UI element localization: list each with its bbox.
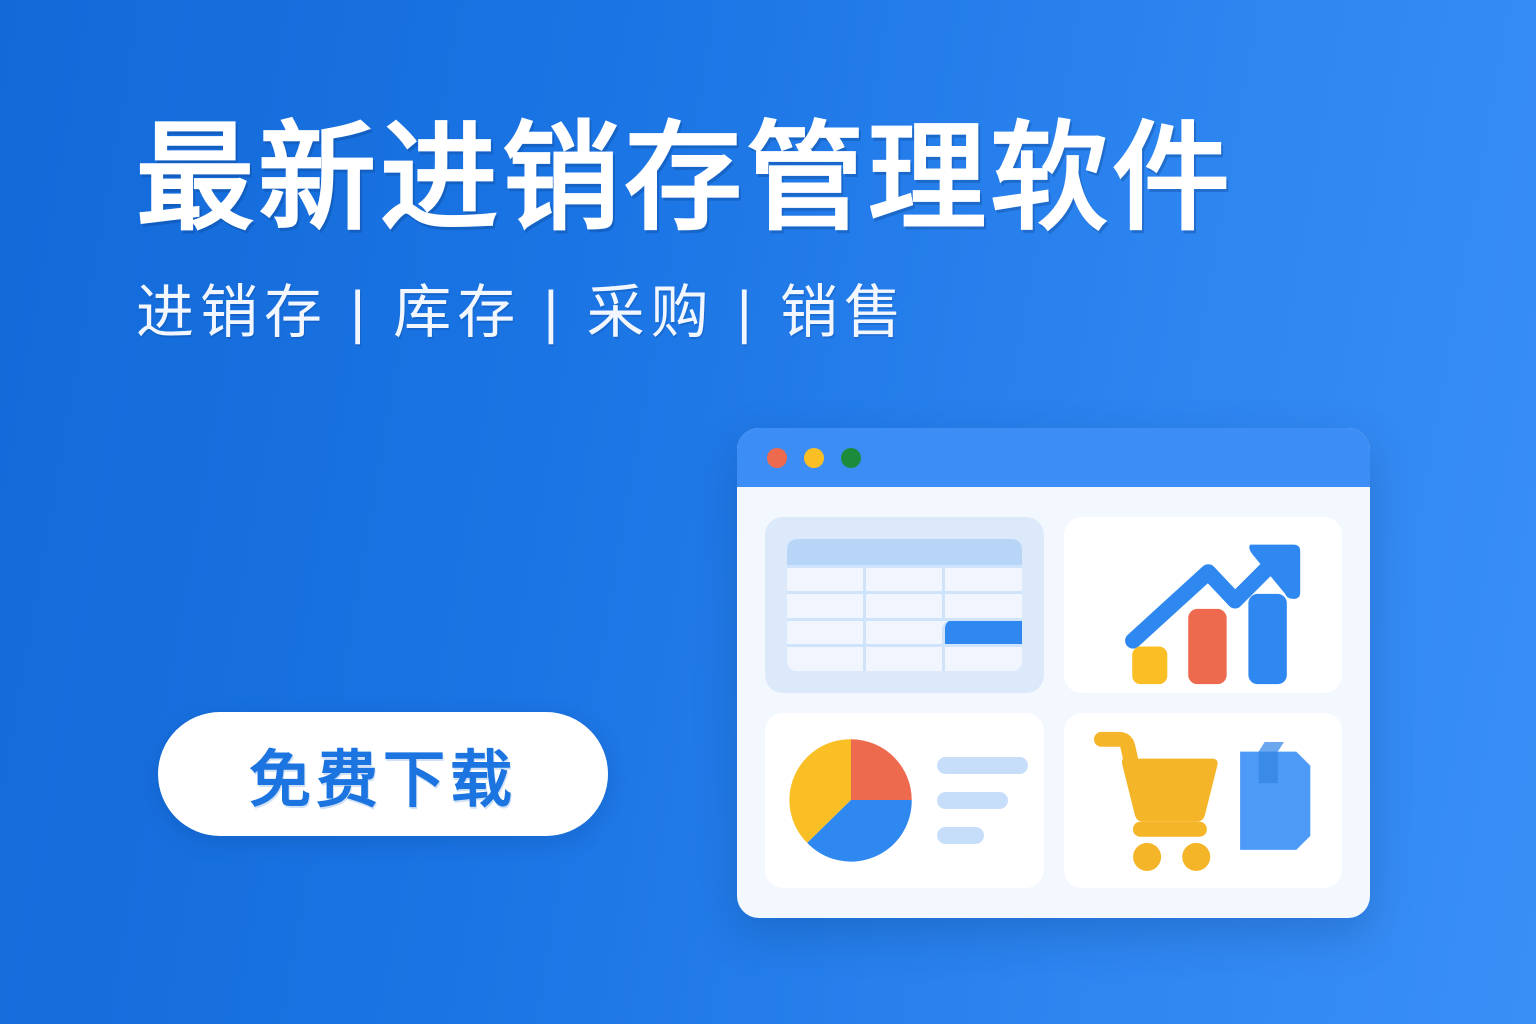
- bar-medium: [1188, 609, 1226, 684]
- page-subtitle: 进销存 | 库存 | 采购 | 销售: [136, 278, 1436, 348]
- package-box-icon: [1240, 737, 1310, 849]
- commerce-card: [1064, 713, 1343, 889]
- table-cell: [863, 594, 942, 617]
- growth-chart-icon: [1064, 517, 1343, 693]
- cart-basket: [1121, 758, 1217, 821]
- headline-block: 最新进销存管理软件 进销存 | 库存 | 采购 | 销售: [136, 108, 1436, 348]
- cart-wheel-left: [1133, 842, 1161, 870]
- pie-chart-icon: [785, 734, 917, 866]
- table-row: [787, 565, 1022, 591]
- box-tape: [1258, 751, 1277, 783]
- table-cell: [863, 568, 942, 591]
- table-cell: [942, 594, 1021, 617]
- cart-bar: [1133, 821, 1207, 836]
- bar-small: [1132, 647, 1167, 685]
- table-row: [787, 644, 1022, 670]
- commerce-icons: [1064, 713, 1343, 889]
- table-cell: [787, 594, 863, 617]
- free-download-button[interactable]: 免费下载: [158, 712, 608, 836]
- table-cell: [787, 568, 863, 591]
- legend-bar: [937, 757, 1028, 774]
- cart-wheel-right: [1182, 842, 1210, 870]
- growth-chart-card: [1064, 517, 1343, 693]
- table-cell: [942, 568, 1021, 591]
- inventory-table-card: [765, 517, 1044, 693]
- table-row: [787, 591, 1022, 617]
- minimize-dot-icon: [804, 448, 824, 468]
- shopping-cart-icon: [1101, 739, 1217, 871]
- close-dot-icon: [767, 448, 787, 468]
- app-window-illustration: [737, 428, 1370, 918]
- free-download-label: 免费下载: [249, 729, 517, 819]
- pie-chart-card: [765, 713, 1044, 889]
- page-title: 最新进销存管理软件: [136, 108, 1436, 252]
- table-grid: [787, 539, 1022, 671]
- table-cell: [863, 621, 942, 644]
- window-content: [737, 487, 1370, 918]
- hero-banner: 最新进销存管理软件 进销存 | 库存 | 采购 | 销售 免费下载: [0, 0, 1536, 1024]
- table-cell: [863, 647, 942, 670]
- bar-large: [1248, 594, 1286, 684]
- legend-bar: [937, 792, 1008, 809]
- table-cell-highlighted: [942, 621, 1021, 644]
- table-cell: [787, 647, 863, 670]
- pie-legend: [917, 757, 1028, 844]
- maximize-dot-icon: [841, 448, 861, 468]
- table-cell: [787, 621, 863, 644]
- table-header-row: [787, 539, 1022, 565]
- slice-red: [851, 740, 912, 801]
- table-cell: [942, 647, 1021, 670]
- legend-bar: [937, 827, 984, 844]
- table-row: [787, 618, 1022, 644]
- window-titlebar: [737, 428, 1370, 487]
